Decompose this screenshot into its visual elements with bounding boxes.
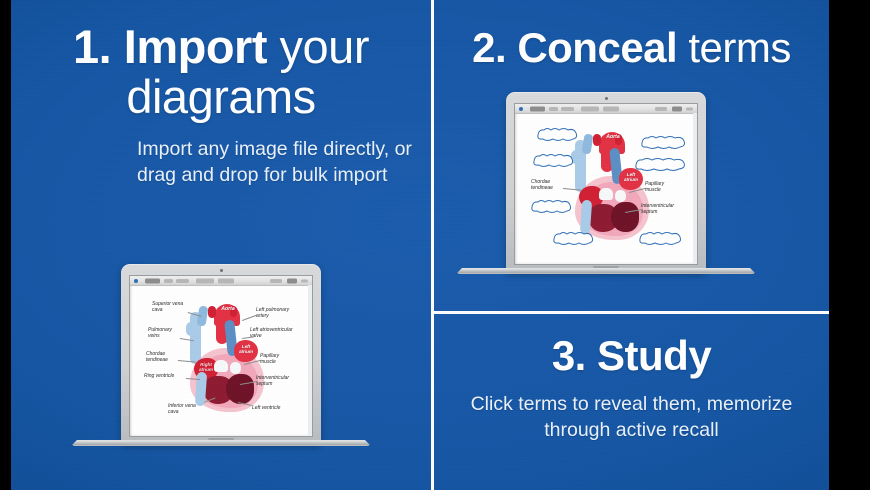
laptop-base xyxy=(456,268,756,274)
diagram-label-left-atrioventricular-valve: Left atrioventricular valve xyxy=(250,328,306,339)
panel-study-step: 3. xyxy=(552,332,586,379)
diagram-label-chordae-tendineae: Chordae tendineae xyxy=(146,352,186,363)
conceal-blob[interactable] xyxy=(529,198,573,214)
diagram-label-ring-ventricle: Ring ventricle xyxy=(144,374,192,380)
panel-conceal-title: 2. Conceal terms xyxy=(434,26,829,71)
laptop-import: Aorta Left atrium Right atrium Superior … xyxy=(121,264,321,444)
laptop-screen: Aorta Left atrium Right atrium Superior … xyxy=(130,276,312,436)
panel-conceal-title-light: terms xyxy=(688,24,791,71)
panel-study-title-bold: Study xyxy=(597,332,711,379)
heart-label-left-atrium: Left atrium xyxy=(619,172,643,182)
promo-canvas: 1. Import your diagrams Import any image… xyxy=(11,0,829,490)
panel-conceal-title-bold: Conceal xyxy=(517,24,677,71)
heart-label-aorta: Aorta xyxy=(599,135,627,141)
conceal-blob[interactable] xyxy=(639,134,687,150)
diagram-label-papillary-muscle: Papillary muscle xyxy=(645,182,685,193)
heart-label-right-atrium: Right atrium xyxy=(194,362,218,372)
laptop-base xyxy=(71,440,371,446)
diagram-label-papillary-muscle: Papillary muscle xyxy=(260,354,300,365)
heart-label-left-atrium: Left atrium xyxy=(234,344,258,354)
panel-import-body: Import any image file directly, or drag … xyxy=(11,136,431,189)
panel-conceal: 2. Conceal terms xyxy=(434,0,829,311)
diagram-label-interventricular-septum: Interventricular septum xyxy=(256,376,304,387)
heart-diagram: Aorta Left atrium Right atrium Superior … xyxy=(130,276,312,436)
webcam-dot xyxy=(605,97,608,100)
panel-study-body: Click terms to reveal them, memorize thr… xyxy=(434,391,829,444)
heart-diagram-concealed: Aorta Left atrium Chordae tendineae Papi… xyxy=(515,104,697,264)
panel-study-title: 3. Study xyxy=(434,334,829,379)
heart-label-aorta: Aorta xyxy=(214,307,242,313)
laptop-conceal: Aorta Left atrium Chordae tendineae Papi… xyxy=(506,92,706,272)
conceal-blob[interactable] xyxy=(535,126,579,142)
panel-import-title: 1. Import your diagrams xyxy=(11,22,431,122)
webcam-dot xyxy=(220,269,223,272)
panel-import: 1. Import your diagrams Import any image… xyxy=(11,0,431,490)
diagram-label-left-ventricle: Left ventricle xyxy=(252,406,296,412)
diagram-label-chordae-tendineae: Chordae tendineae xyxy=(531,180,571,191)
conceal-blob[interactable] xyxy=(637,230,683,246)
conceal-blob[interactable] xyxy=(551,230,595,246)
panel-conceal-step: 2. xyxy=(472,24,506,71)
diagram-label-inferior-vena-cava: Inferior vena cava xyxy=(168,404,210,415)
screenshot-root: 1. Import your diagrams Import any image… xyxy=(0,0,870,490)
diagram-label-interventricular-septum: Interventricular septum xyxy=(641,204,689,215)
conceal-blob[interactable] xyxy=(633,156,687,172)
laptop-screen: Aorta Left atrium Chordae tendineae Papi… xyxy=(515,104,697,264)
conceal-blob[interactable] xyxy=(531,152,575,168)
panel-import-step: 1. xyxy=(73,20,111,73)
diagram-label-left-pulmonary-artery: Left pulmonary artery xyxy=(256,308,304,319)
panel-import-title-bold: Import xyxy=(124,20,267,73)
panel-study: 3. Study Click terms to reveal them, mem… xyxy=(434,314,829,490)
